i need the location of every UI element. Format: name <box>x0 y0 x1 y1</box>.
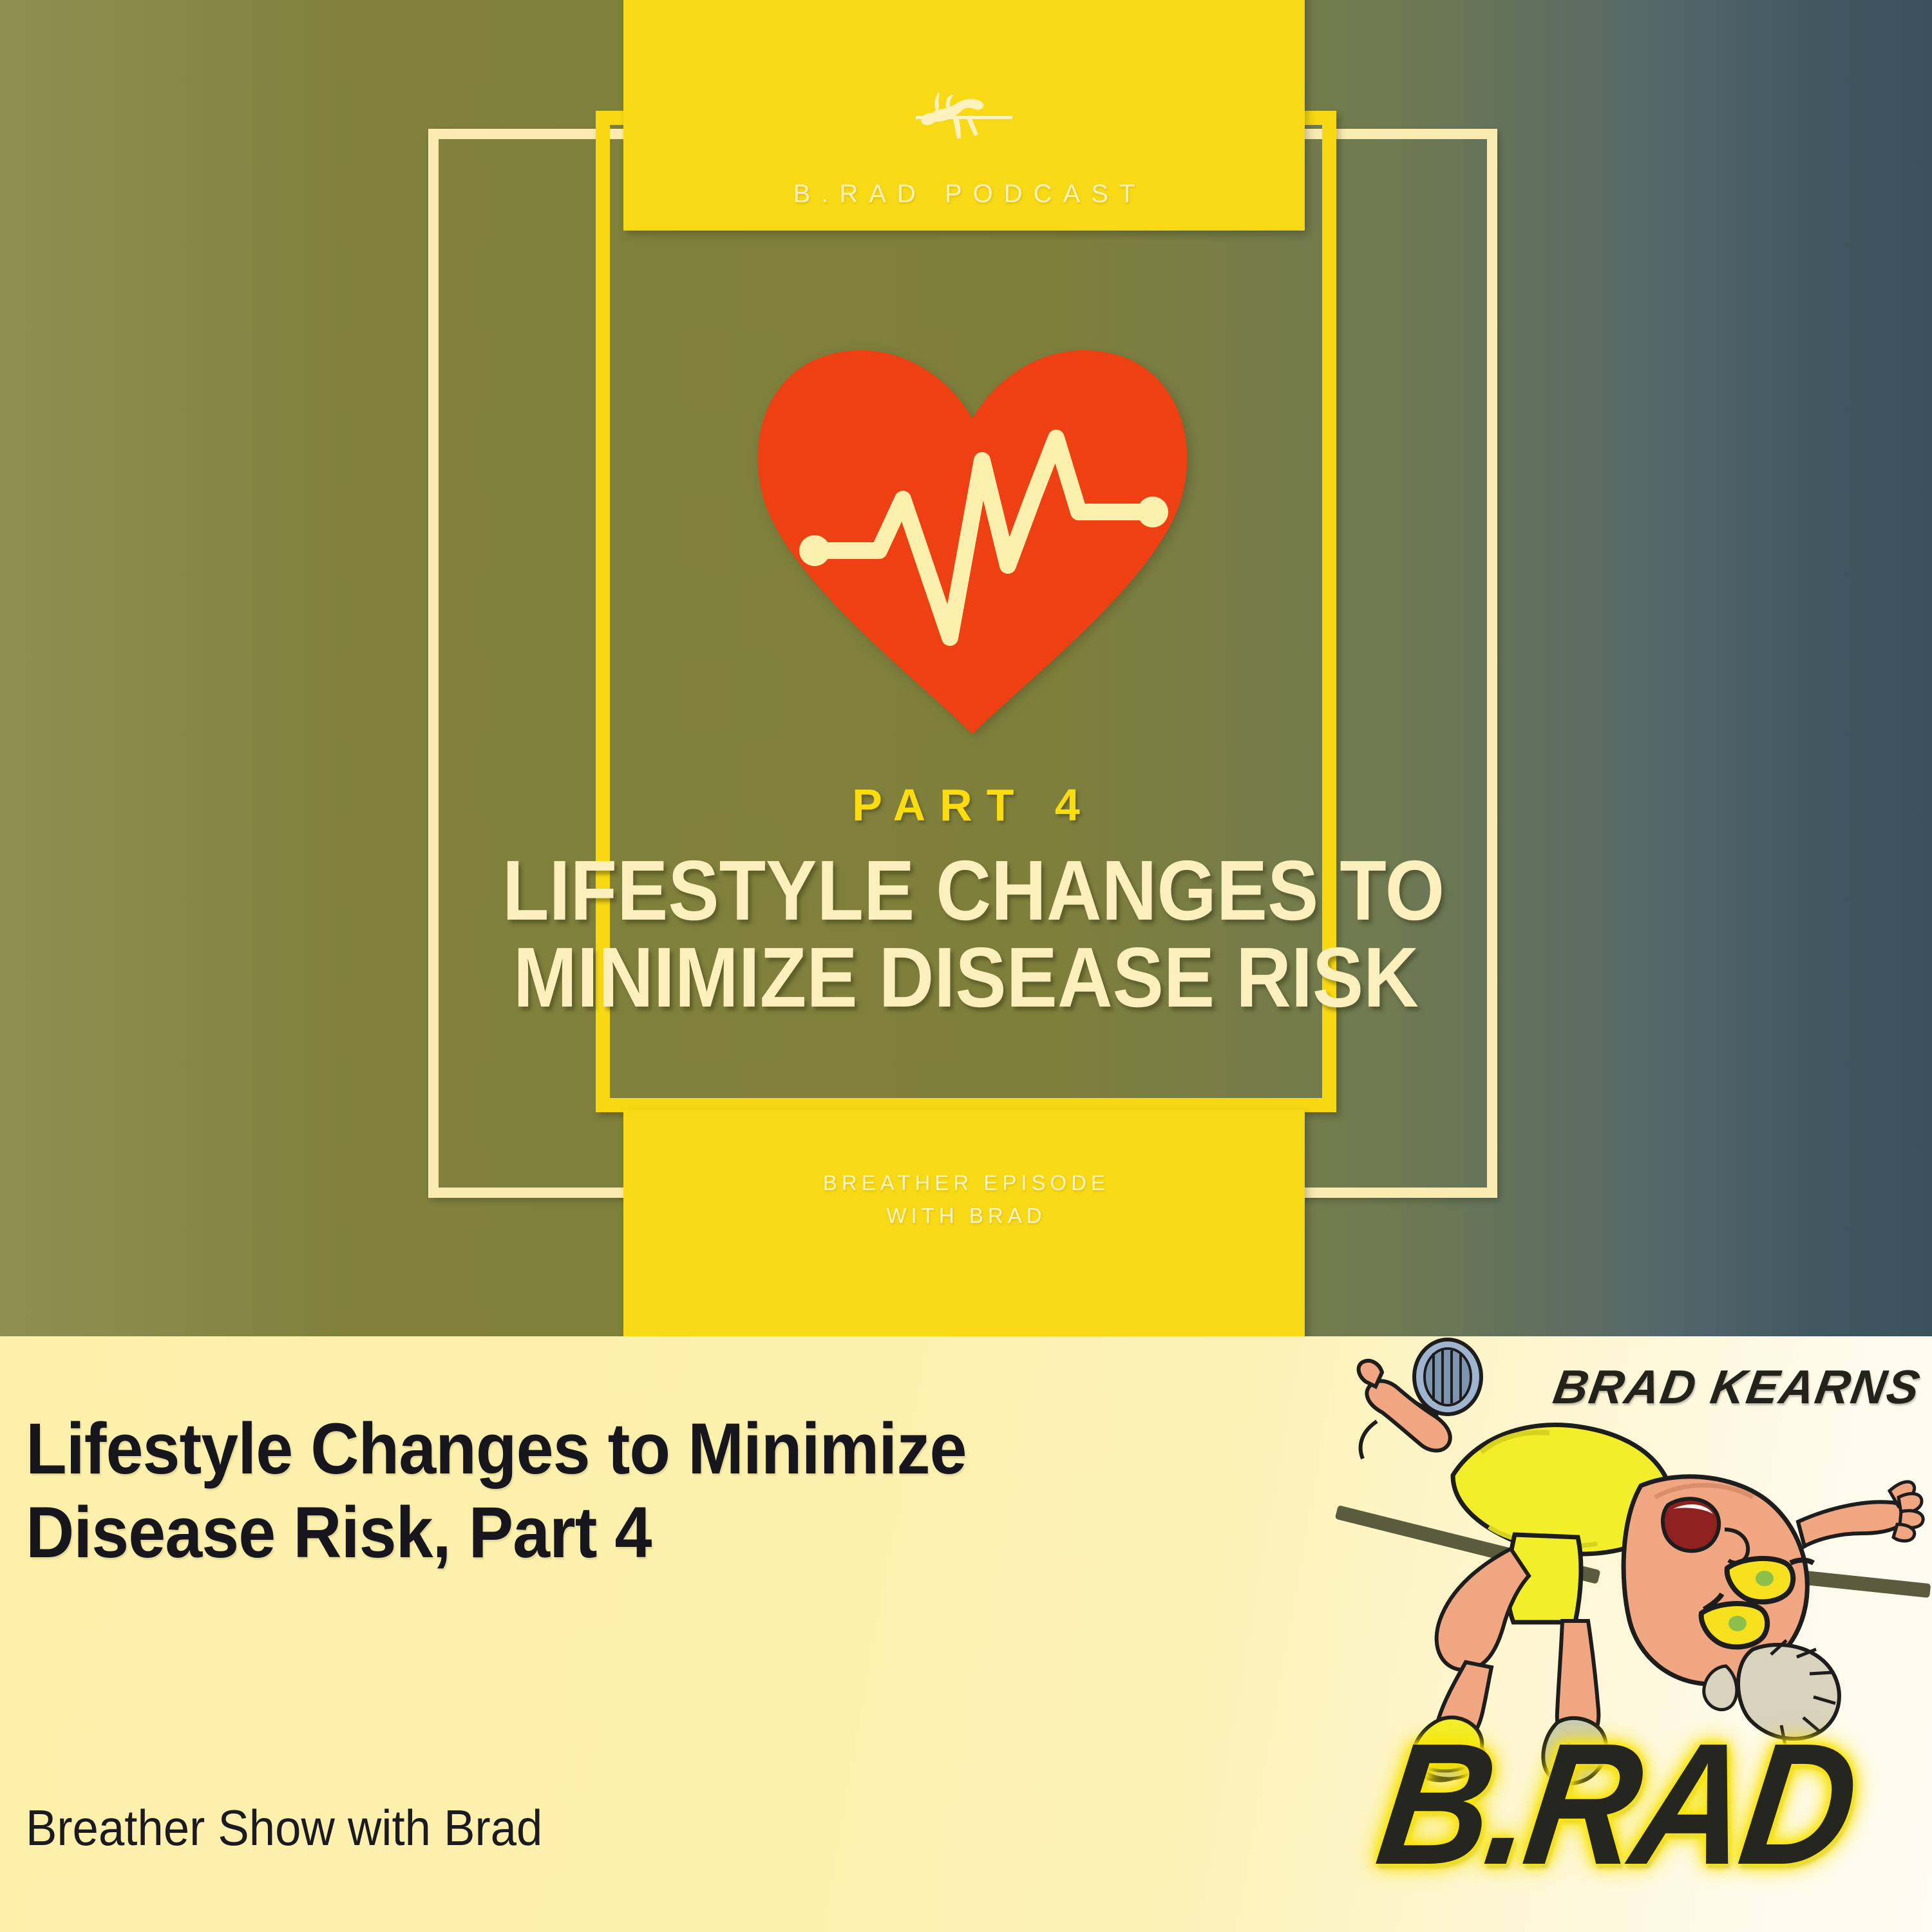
episode-title: Lifestyle Changes to Minimize Disease Ri… <box>26 1407 1224 1575</box>
podcast-cover-art: B.RAD PODCAST PART 4 LIFESTYLE CHANGES T… <box>0 0 1932 1932</box>
show-name-label: Breather Show with Brad <box>26 1799 542 1857</box>
episode-info-banner: Lifestyle Changes to Minimize Disease Ri… <box>0 1336 1932 1932</box>
artwork-title-line-2: MINIMIZE DISEASE RISK <box>502 934 1430 1021</box>
cover-artwork: B.RAD PODCAST PART 4 LIFESTYLE CHANGES T… <box>0 0 1932 1336</box>
episode-host-label: WITH BRAD <box>882 1199 1046 1232</box>
podcast-name-label: B.RAD PODCAST <box>782 180 1146 209</box>
episode-type-label: BREATHER EPISODE <box>819 1166 1110 1199</box>
pulse-dot-right <box>1137 497 1168 527</box>
top-yellow-panel: B.RAD PODCAST <box>623 0 1305 231</box>
episode-title-block: Lifestyle Changes to Minimize Disease Ri… <box>26 1407 1314 1575</box>
brad-wordmark: B.RAD <box>1367 1704 1865 1903</box>
left-hand <box>1359 1361 1382 1387</box>
pulse-dot-left <box>799 535 830 566</box>
heart-pulse-icon <box>734 322 1211 747</box>
bottom-yellow-panel: BREATHER EPISODE WITH BRAD <box>623 1110 1305 1336</box>
episode-title-line-1: Lifestyle Changes to Minimize <box>26 1407 1224 1491</box>
artwork-title-block: PART 4 LIFESTYLE CHANGES TO MINIMIZE DIS… <box>451 779 1481 1021</box>
high-jumper-icon <box>916 86 1012 145</box>
artwork-title-line-1: LIFESTYLE CHANGES TO <box>502 848 1430 934</box>
artwork-main-title: LIFESTYLE CHANGES TO MINIMIZE DISEASE RI… <box>502 848 1430 1021</box>
episode-title-line-2: Disease Risk, Part 4 <box>26 1491 1224 1575</box>
right-arm <box>1798 1502 1906 1546</box>
part-number-label: PART 4 <box>451 779 1481 831</box>
brad-logo: BRAD KEARNS <box>1320 1336 1932 1932</box>
